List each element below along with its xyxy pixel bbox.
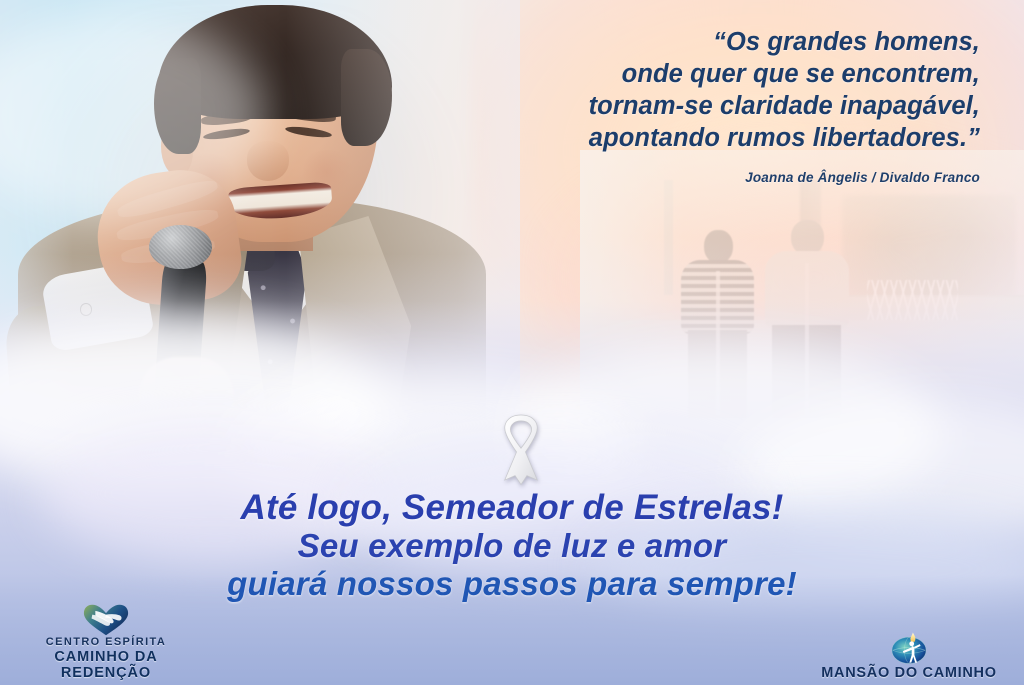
quote-attribution: Joanna de Ângelis / Divaldo Franco <box>340 170 980 185</box>
headline-line-2: Seu exemplo de luz e amor <box>0 527 1024 565</box>
memorial-poster: “Os grandes homens, onde quer que se enc… <box>0 0 1024 685</box>
person-head <box>704 230 732 263</box>
headline-line-1: Até logo, Semeador de Estrelas! <box>0 489 1024 527</box>
headline-block: Até logo, Semeador de Estrelas! Seu exem… <box>0 489 1024 603</box>
heart-hands-logo-icon <box>8 602 204 636</box>
white-mourning-ribbon-icon <box>484 412 558 486</box>
logo-line-2: CAMINHO DA REDENÇÃO <box>8 649 204 681</box>
quote-line-3: tornam-se claridade inapagável, <box>340 90 980 122</box>
quote-line-4: apontando rumos libertadores.” <box>340 122 980 154</box>
mansao-do-caminho-logo: MANSÃO DO CAMINHO <box>806 631 1012 681</box>
logo-line-1: MANSÃO DO CAMINHO <box>806 665 1012 681</box>
person-head <box>791 220 823 255</box>
quote-line-1: “Os grandes homens, <box>340 26 980 58</box>
hair-side-left <box>154 58 201 155</box>
microphone-head <box>149 225 212 269</box>
centro-espirita-logo: CENTRO ESPÍRITA CAMINHO DA REDENÇÃO <box>8 602 204 681</box>
pole-shape <box>664 180 673 295</box>
globe-figure-flame-logo-icon <box>806 631 1012 665</box>
quote-text: “Os grandes homens, onde quer que se enc… <box>340 26 980 154</box>
quote-line-2: onde quer que se encontrem, <box>340 58 980 90</box>
headline-line-3: guiará nossos passos para sempre! <box>0 565 1024 603</box>
logo-line-1: CENTRO ESPÍRITA <box>8 636 204 649</box>
nose-shape <box>247 141 289 181</box>
